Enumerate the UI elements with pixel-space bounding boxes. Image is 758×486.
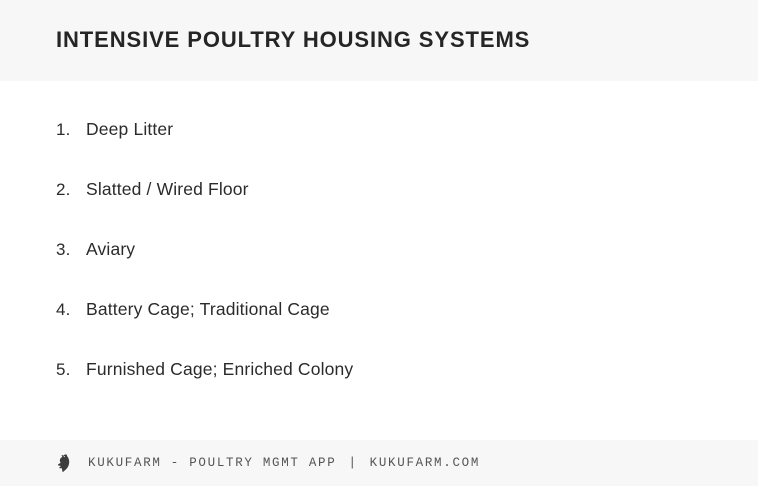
list-item-label: Deep Litter [86,119,173,140]
housing-systems-list: 1. Deep Litter 2. Slatted / Wired Floor … [56,119,702,419]
slide: INTENSIVE POULTRY HOUSING SYSTEMS 1. Dee… [0,0,758,486]
list-item: 1. Deep Litter [56,119,702,179]
list-item-number: 1. [56,120,86,140]
slide-content: 1. Deep Litter 2. Slatted / Wired Floor … [0,81,758,440]
footer-website-link[interactable]: KUKUFARM.COM [370,456,480,470]
slide-header: INTENSIVE POULTRY HOUSING SYSTEMS [0,0,758,81]
list-item-number: 2. [56,180,86,200]
slide-footer: KUKUFARM - POULTRY MGMT APP | KUKUFARM.C… [0,440,758,486]
list-item-number: 3. [56,240,86,260]
footer-separator: | [336,456,369,470]
list-item-label: Furnished Cage; Enriched Colony [86,359,353,380]
list-item-label: Slatted / Wired Floor [86,179,249,200]
list-item: 5. Furnished Cage; Enriched Colony [56,359,702,419]
list-item: 3. Aviary [56,239,702,299]
list-item: 2. Slatted / Wired Floor [56,179,702,239]
page-title: INTENSIVE POULTRY HOUSING SYSTEMS [56,28,530,52]
chicken-icon [56,454,72,472]
footer-brand: KUKUFARM - POULTRY MGMT APP [88,456,336,470]
list-item-label: Battery Cage; Traditional Cage [86,299,330,320]
list-item: 4. Battery Cage; Traditional Cage [56,299,702,359]
list-item-label: Aviary [86,239,135,260]
list-item-number: 4. [56,300,86,320]
list-item-number: 5. [56,360,86,380]
